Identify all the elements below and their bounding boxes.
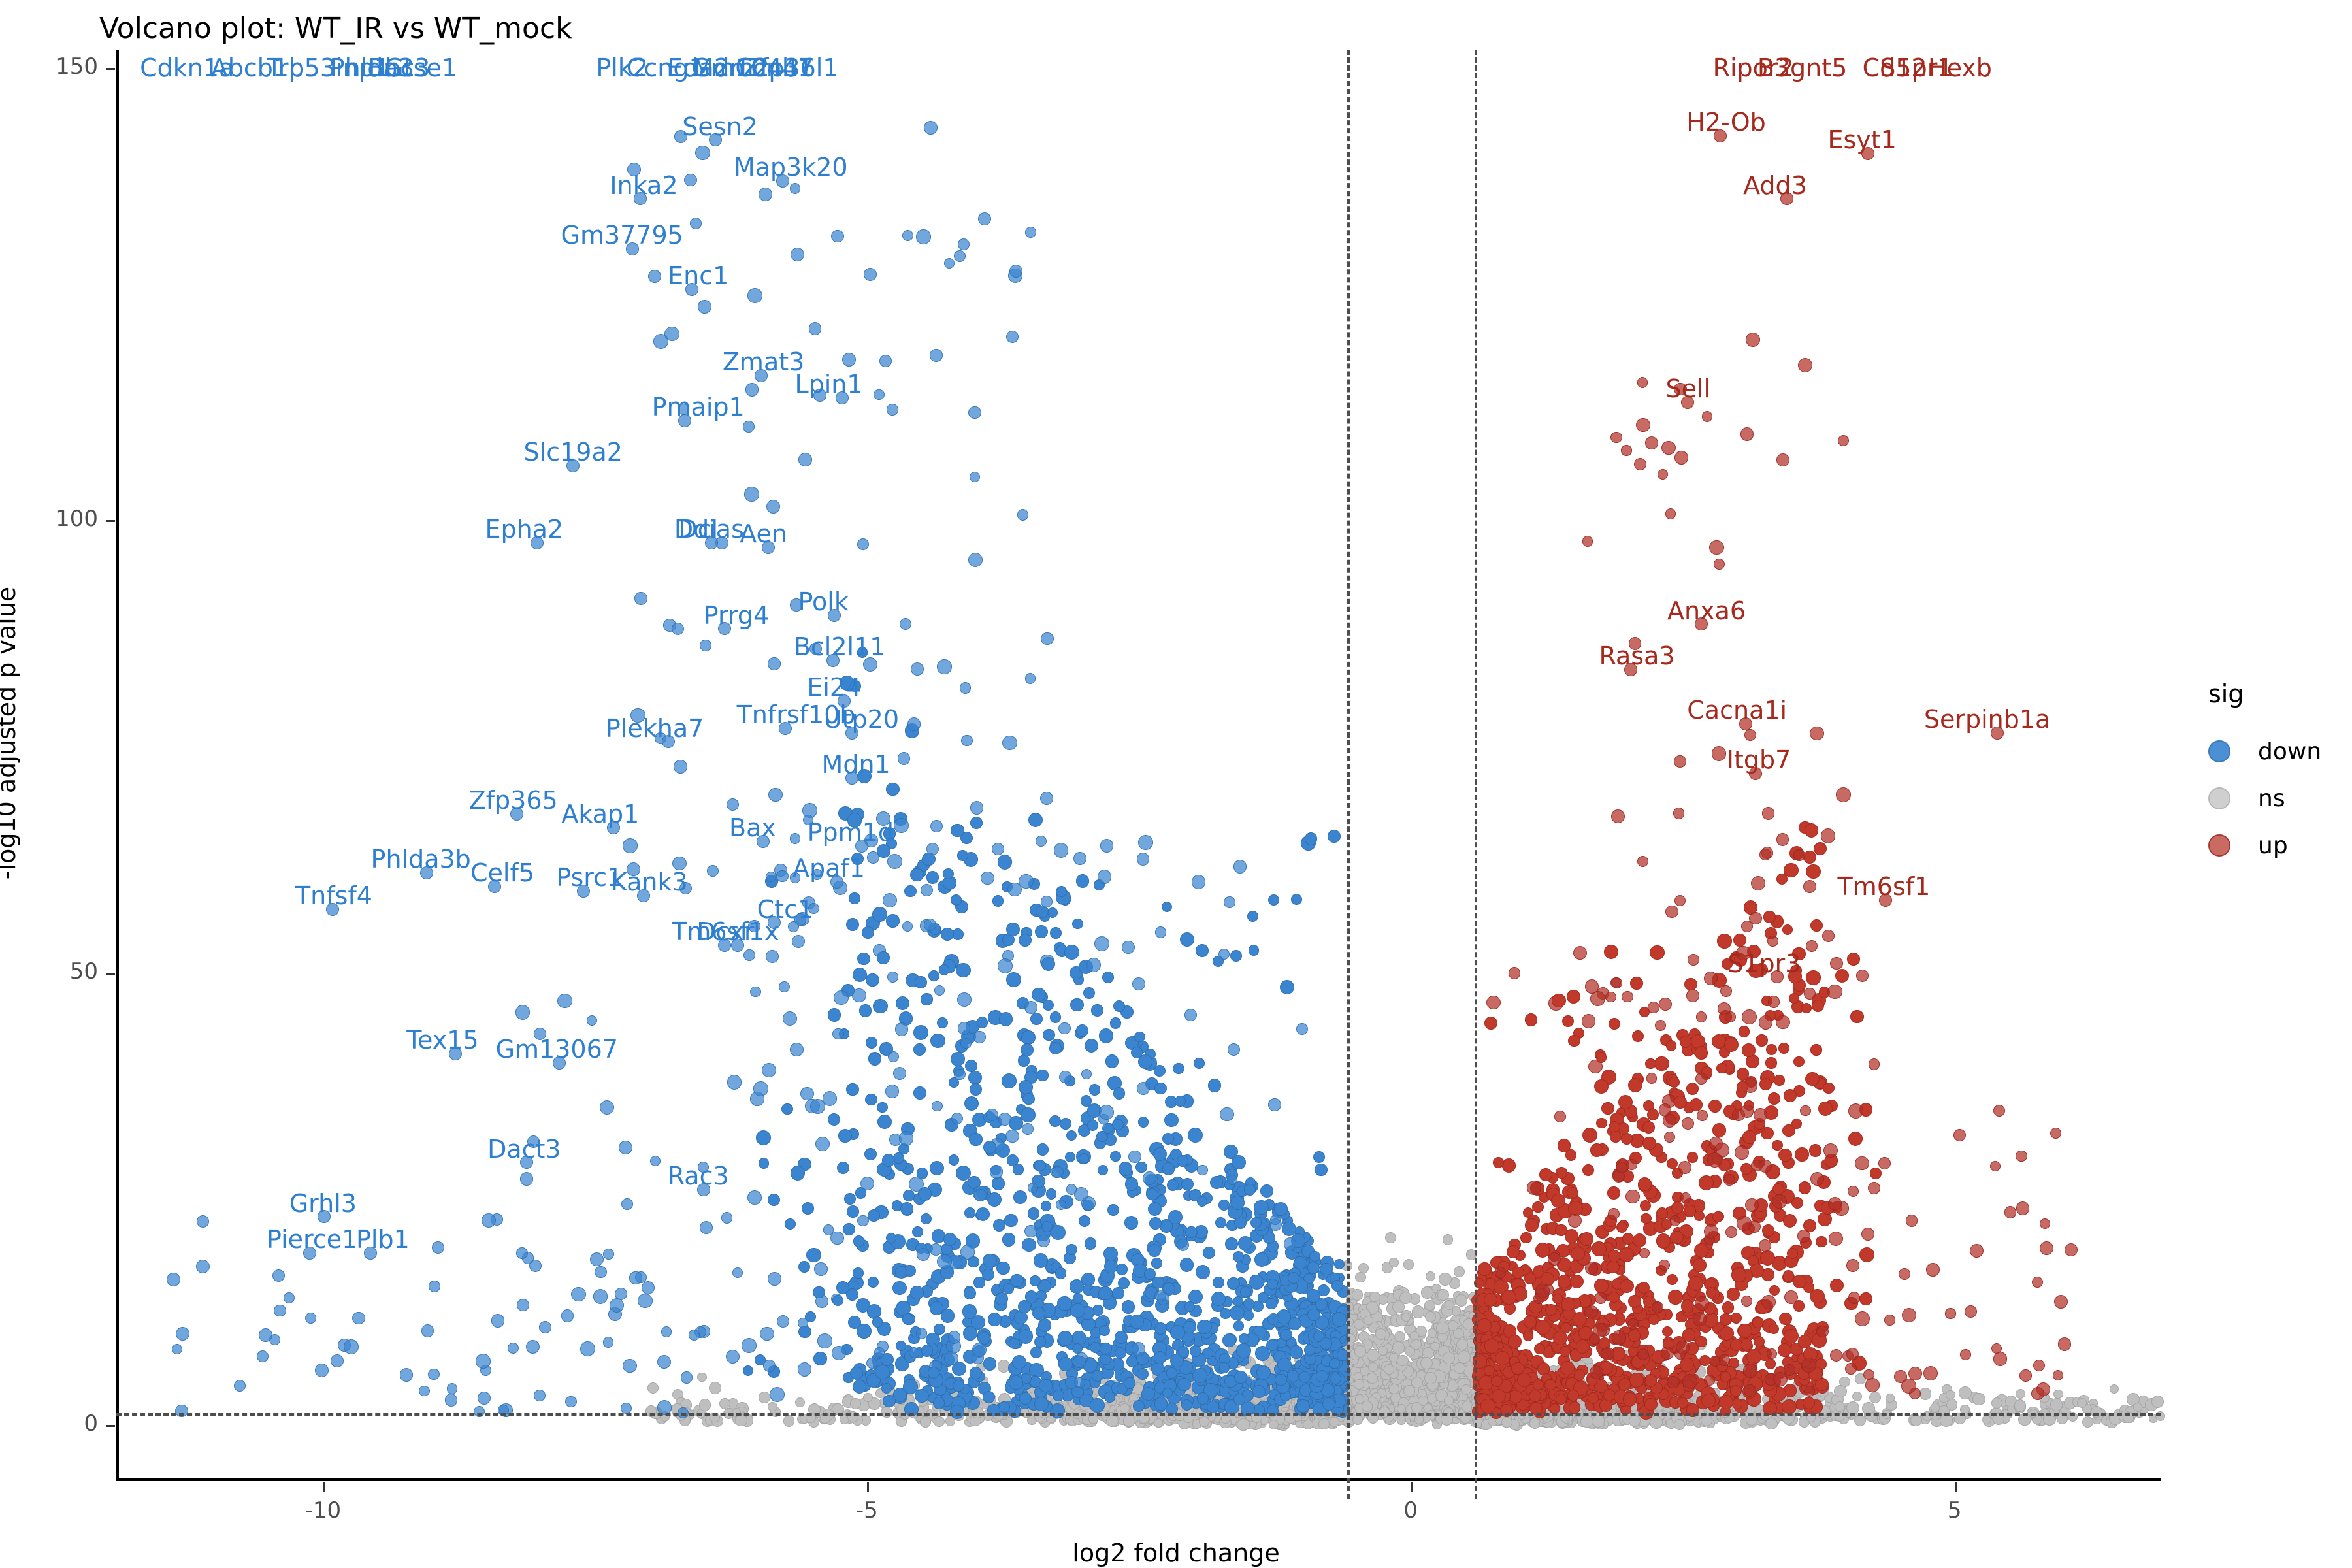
x-tick-label: -5 <box>856 1497 878 1524</box>
y-tick-label: 150 <box>39 54 98 80</box>
x-tick-label: 5 <box>1948 1497 1962 1524</box>
x-tick-mark <box>1411 1482 1413 1492</box>
y-tick-mark <box>106 520 115 522</box>
x-tick-mark <box>323 1482 325 1492</box>
volcano-plot-figure: Volcano plot: WT_IR vs WT_mock -log10 ad… <box>0 0 2352 1568</box>
x-tick-mark <box>867 1482 869 1492</box>
x-axis-line <box>116 1478 2161 1481</box>
x-axis-title: log2 fold change <box>0 1539 2352 1567</box>
y-tick-mark <box>106 1425 115 1427</box>
x-tick-mark <box>1955 1482 1957 1492</box>
plot-panel <box>116 50 2161 1479</box>
x-tick-label: -10 <box>305 1497 342 1524</box>
page-title: Volcano plot: WT_IR vs WT_mock <box>99 12 572 45</box>
y-tick-label: 100 <box>39 506 98 532</box>
y-axis-title: -log10 adjusted p value <box>0 374 21 1092</box>
y-axis-line <box>116 50 119 1479</box>
y-tick-label: 50 <box>39 958 98 985</box>
y-tick-mark <box>106 973 115 975</box>
x-tick-label: 0 <box>1403 1497 1418 1524</box>
y-tick-mark <box>106 68 115 70</box>
y-tick-label: 0 <box>39 1411 98 1437</box>
